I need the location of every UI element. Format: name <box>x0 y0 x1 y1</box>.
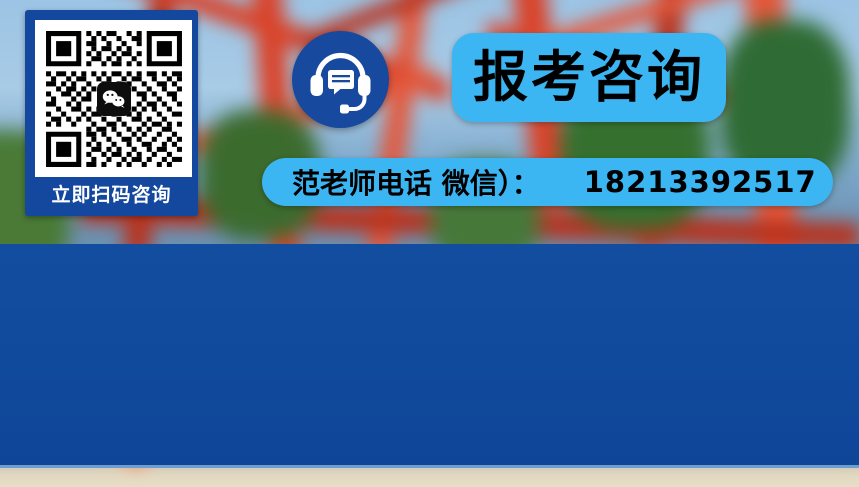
promotional-poster: 立即扫码咨询 报考咨询 范老师电话 微信）： 18213392517 <box>0 0 859 487</box>
wechat-icon <box>97 82 131 116</box>
category-panel: 特种作业： 电工证、焊工证、高处作业证、制冷作业、安全员证等 特种设备： 叉车证… <box>0 244 859 465</box>
consultation-title-text: 报考咨询 <box>473 50 705 105</box>
consultation-title-pill[interactable]: 报考咨询 <box>452 33 726 122</box>
wechat-glyph <box>102 89 126 109</box>
headset-icon <box>292 31 389 128</box>
contact-label: 范老师电话 微信）： <box>292 162 540 202</box>
panel-bottom-divider <box>0 465 859 468</box>
qr-caption: 立即扫码咨询 <box>29 176 194 210</box>
contact-phone-pill[interactable]: 范老师电话 微信）： 18213392517 <box>262 158 833 206</box>
headset-support-badge[interactable] <box>292 31 389 128</box>
qr-code-image <box>35 20 192 177</box>
qr-code-card[interactable]: 立即扫码咨询 <box>25 10 198 216</box>
contact-phone-number[interactable]: 18213392517 <box>584 165 817 199</box>
